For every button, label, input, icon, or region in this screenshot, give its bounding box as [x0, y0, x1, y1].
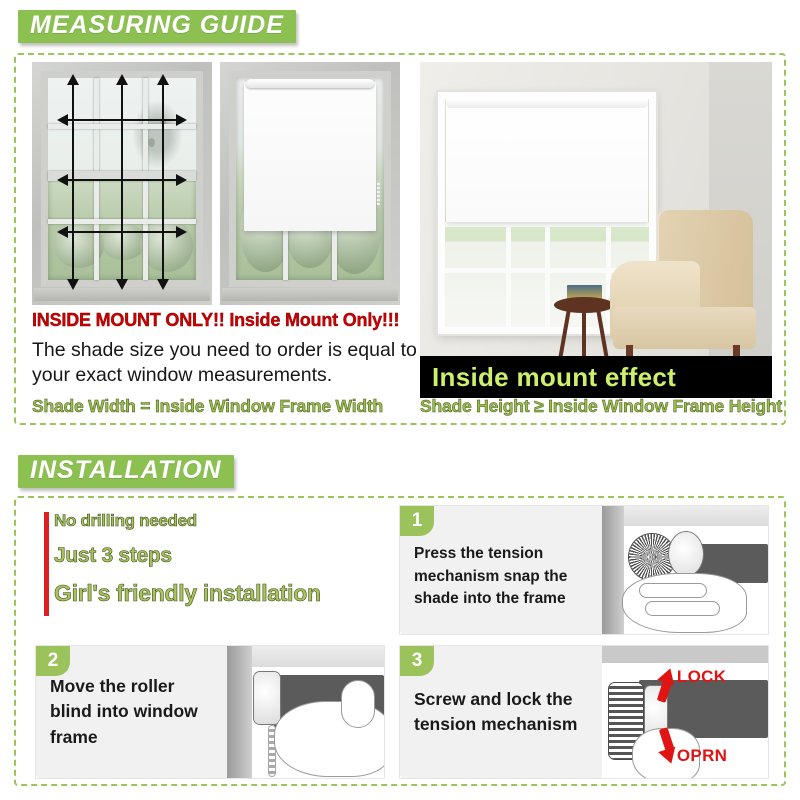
photo-caption-bar: Inside mount effect [420, 356, 772, 398]
tree-shape [128, 94, 187, 175]
photo-caption-label: Inside mount effect [420, 362, 676, 393]
measuring-instructions: The shade size you need to order is equa… [32, 338, 420, 388]
step-1-text-column: 1 Press the tension mechanism snap the s… [400, 506, 602, 634]
measuring-guide-header: MEASURING GUIDE [0, 0, 800, 43]
ceiling-shape [602, 506, 768, 526]
bracket-shape [254, 672, 280, 724]
window-measurement-diagram [32, 62, 212, 305]
rule-shade-width: Shade Width = Inside Window Frame Width [32, 396, 383, 417]
finger-shape [639, 583, 707, 598]
lock-label: LOCK [677, 667, 726, 687]
height-measure-arrow [121, 84, 123, 280]
window-mullion-vertical [332, 223, 337, 280]
roller-shade-fabric [244, 82, 376, 231]
highlight-no-drilling: No drilling needed [54, 512, 384, 529]
step-3-badge: 3 [400, 646, 434, 676]
measuring-guide-banner-label: MEASURING GUIDE [18, 10, 296, 43]
measuring-guide-panel: Inside mount effect INSIDE MOUNT ONLY!! … [14, 53, 786, 425]
wall-shape [227, 646, 252, 778]
width-measure-arrow [67, 231, 177, 233]
width-measure-arrow [67, 119, 177, 121]
step-2-badge: 2 [36, 646, 70, 676]
wall-shape [602, 506, 624, 634]
inside-mount-warning: INSIDE MOUNT ONLY!! Inside Mount Only!!! [32, 311, 420, 329]
window-glass-area [229, 71, 391, 287]
shade-chain [377, 181, 380, 205]
step-1-badge: 1 [400, 506, 434, 536]
installation-header: INSTALLATION [0, 445, 234, 488]
installation-step-2: 2 Move the roller blind into window fram… [36, 646, 384, 778]
step-2-illustration [227, 646, 384, 778]
step-3-illustration: LOCK OPRN [602, 646, 768, 778]
roller-shade-headrail [446, 99, 648, 108]
inside-mount-room-photo: Inside mount effect [420, 62, 772, 398]
height-measure-arrow [162, 84, 164, 280]
installation-step-1: 1 Press the tension mechanism snap the s… [400, 506, 768, 634]
window-mullion-vertical [545, 222, 550, 327]
window-mullion-vertical [506, 222, 511, 327]
finger-shape [341, 680, 374, 728]
bush-shape [101, 223, 145, 259]
window-mullion-vertical [283, 223, 288, 280]
chair-seat [613, 307, 755, 349]
measuring-text-block: INSIDE MOUNT ONLY!! Inside Mount Only!!!… [32, 311, 420, 388]
step-1-instruction: Press the tension mechanism snap the sha… [400, 529, 602, 610]
window-sill [222, 288, 398, 301]
rule-shade-height: Shade Height ≥ Inside Window Frame Heigh… [420, 396, 782, 417]
highlight-accent-bar [44, 512, 49, 616]
open-label: OPRN [677, 746, 727, 766]
highlight-girls-friendly: Girl's friendly installation [54, 582, 384, 605]
installation-panel: No drilling needed Just 3 steps Girl's f… [14, 496, 786, 786]
installed-roller-shade [446, 99, 648, 222]
installation-highlights: No drilling needed Just 3 steps Girl's f… [36, 506, 384, 624]
width-measure-arrow [67, 179, 177, 181]
installation-step-3: 3 Screw and lock the tension mechanism L… [400, 646, 768, 778]
step-2-text-column: 2 Move the roller blind into window fram… [36, 646, 227, 778]
end-cap [669, 532, 703, 576]
installation-banner-label: INSTALLATION [18, 455, 234, 488]
headrail-shape [602, 646, 768, 663]
step-3-text-column: 3 Screw and lock the tension mechanism [400, 646, 602, 778]
height-measure-arrow [72, 84, 74, 280]
step-2-instruction: Move the roller blind into window frame [36, 674, 227, 750]
finger-shape [645, 601, 720, 616]
armchair [610, 210, 765, 371]
roller-shade-window-diagram [220, 62, 400, 305]
step-1-illustration [602, 506, 768, 634]
roller-shade-headrail [246, 79, 374, 88]
step-3-instruction: Screw and lock the tension mechanism [400, 687, 602, 738]
highlight-just-3-steps: Just 3 steps [54, 545, 384, 566]
